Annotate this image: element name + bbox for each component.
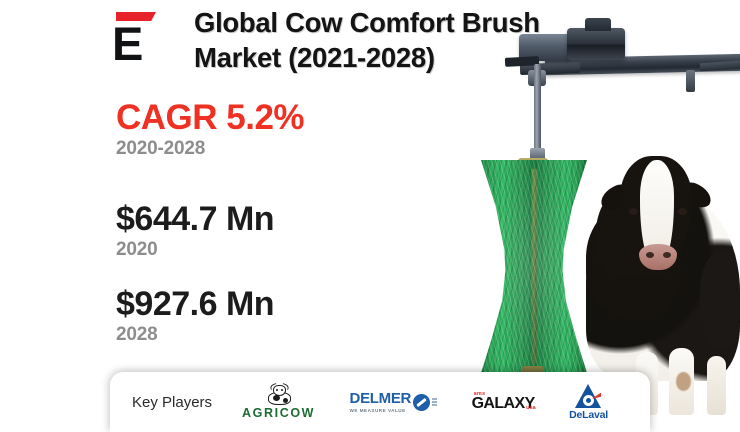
cow-patch-secondary-icon [700,252,740,348]
brush-arm-end-icon [700,61,740,72]
galaxy-suffix: usa [526,405,535,411]
brush-hub-top-icon [518,158,548,168]
cow-ear-left-icon [597,180,637,213]
cow-body-icon [586,196,740,381]
forecast-year-stat: $927.6 Mn 2028 [116,285,436,348]
cow-ear-right-icon [675,178,715,211]
base-year-value: $644.7 Mn [116,200,436,238]
cow-blaze-icon [640,160,674,264]
forecast-year-value: $927.6 Mn [116,285,436,323]
brush-core-icon [532,169,537,365]
page-title: Global Cow Comfort Brush Market (2021-20… [194,6,594,76]
agricow-wordmark: AGRICOW [242,406,315,420]
key-player-galaxy[interactable]: ams GALAXY usa [472,392,535,412]
cagr-value: CAGR 5.2% [116,98,436,137]
agricow-cow-icon [264,385,294,405]
brush-arm-bracket-icon [686,70,695,92]
key-players-card: Key Players AGRICOW DELMER [110,372,650,432]
cow-patch-icon [586,200,682,320]
cow-muzzle-icon [639,244,677,270]
base-year-label: 2020 [116,238,436,263]
infographic-canvas: E Global Cow Comfort Brush Market (2021-… [0,0,740,415]
key-player-delmer[interactable]: DELMER WE MEASURE VALUE [350,391,438,413]
delmer-tagline: WE MEASURE VALUE [350,408,406,413]
key-players-title: Key Players [132,394,212,411]
delaval-triangle-icon [575,384,602,408]
cow-head-icon [620,156,692,260]
cow-eye-left-icon [629,208,638,215]
brush-drive-shaft-icon [534,64,541,164]
delmer-emblem-icon [413,394,430,411]
galaxy-prefix: ams [474,391,486,397]
delmer-wordmark: DELMER [350,391,412,406]
cagr-period: 2020-2028 [116,137,436,162]
cow-neck-icon [596,182,682,278]
logo-letter: E [112,20,142,67]
key-player-agricow[interactable]: AGRICOW [242,385,315,420]
brush-shaft-coupler-lower-icon [530,148,545,162]
base-year-stat: $644.7 Mn 2020 [116,200,436,263]
cow-eye-right-icon [678,208,687,215]
cow-leg-spot-icon [676,372,691,391]
cow-brush-icon [481,160,587,373]
delmer-bars-icon [432,398,437,406]
brush-bristle-texture-icon [481,160,587,373]
cow-nostril-left-icon [646,252,654,258]
cow-leg-front-icon [669,348,694,415]
forecast-year-label: 2028 [116,323,436,348]
cow-nostril-right-icon [663,252,671,258]
market-stats: CAGR 5.2% 2020-2028 $644.7 Mn 2020 $927.… [116,98,436,363]
company-logo: E [110,8,162,66]
cow-leg-rear-icon [707,356,726,415]
cagr-stat: CAGR 5.2% 2020-2028 [116,98,436,162]
